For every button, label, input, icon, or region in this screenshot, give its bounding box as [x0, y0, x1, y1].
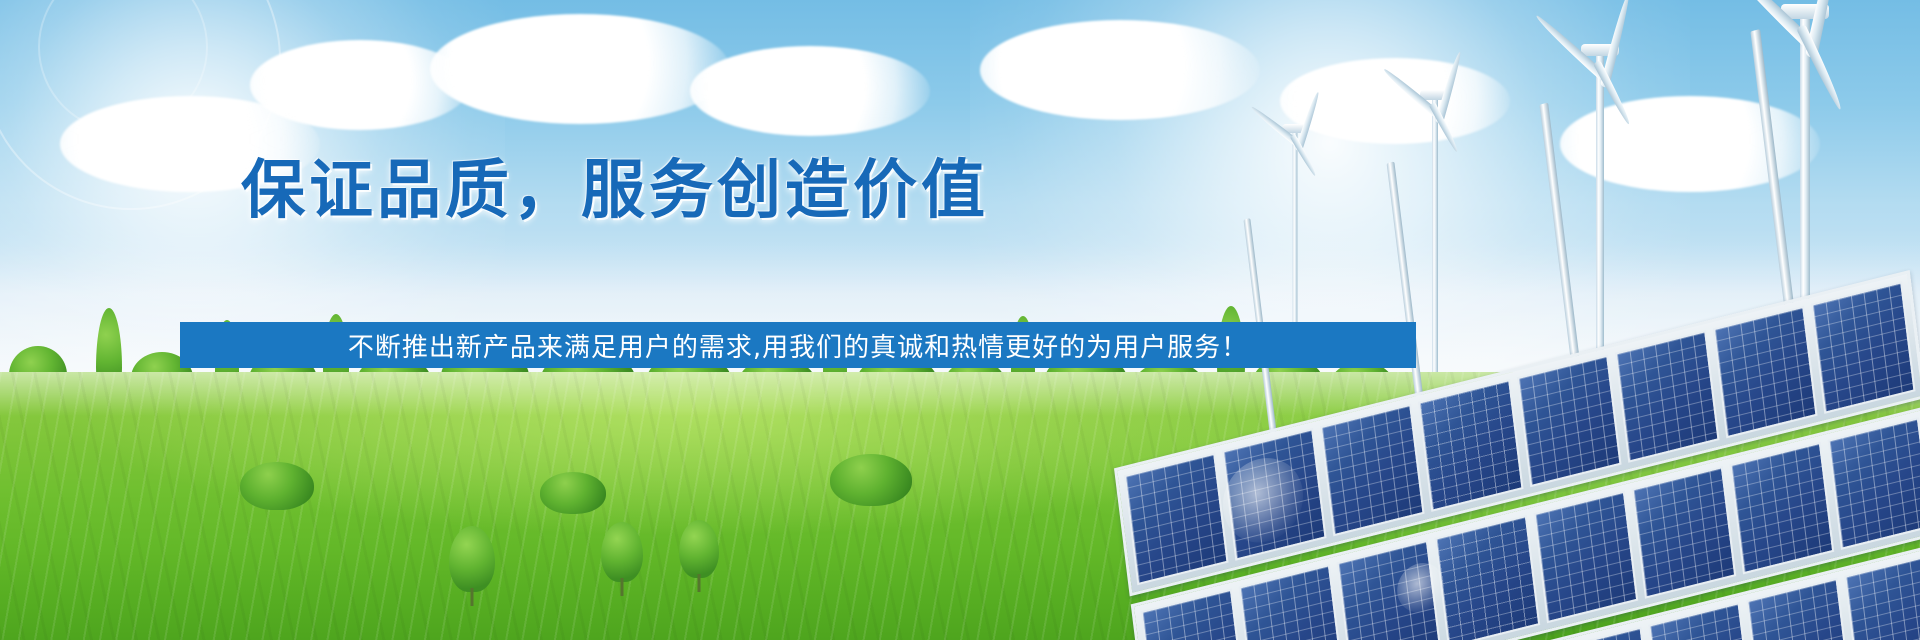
sapling-icon	[448, 520, 496, 606]
sky-background	[0, 0, 1920, 294]
sapling-icon	[678, 516, 720, 592]
bush-icon	[830, 454, 912, 506]
subtitle-bar: 不断推出新产品来满足用户的需求,用我们的真诚和热情更好的为用户服务！	[180, 322, 1416, 368]
bush-icon	[540, 472, 606, 514]
sapling-icon	[600, 516, 644, 596]
bush-icon	[240, 462, 314, 510]
subtitle-text: 不断推出新产品来满足用户的需求,用我们的真诚和热情更好的为用户服务！	[348, 327, 1248, 364]
page-title: 保证品质，服务创造价值	[0, 158, 1230, 225]
promo-banner: 保证品质，服务创造价值 不断推出新产品来满足用户的需求,用我们的真诚和热情更好的…	[0, 0, 1920, 640]
